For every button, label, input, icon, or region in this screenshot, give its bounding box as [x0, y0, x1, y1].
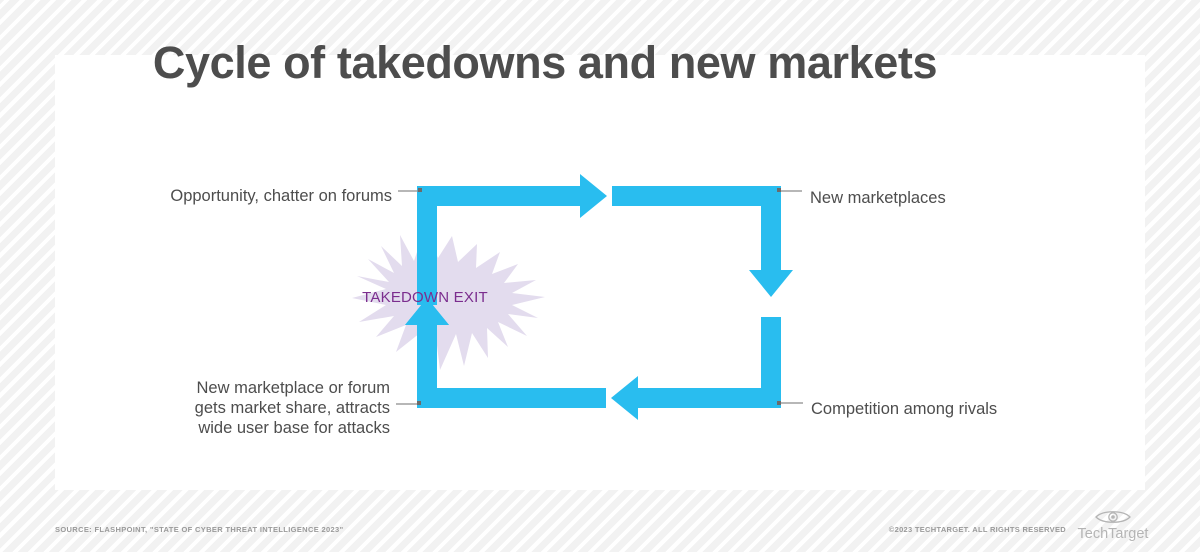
techtarget-wordmark: TechTarget [1078, 526, 1149, 542]
node-label-opportunity: Opportunity, chatter on forums [0, 186, 392, 206]
node-label-new-marketplaces: New marketplaces [810, 188, 1140, 208]
takedown-exit-label: TAKEDOWN EXIT [300, 289, 550, 306]
techtarget-logo: TechTarget [1070, 506, 1156, 542]
page-title: Cycle of takedowns and new markets [0, 37, 1090, 89]
eye-pupil-icon [1111, 515, 1115, 519]
footer-copyright-text: ©2023 TECHTARGET. ALL RIGHTS RESERVED [889, 525, 1066, 534]
node-label-competition: Competition among rivals [811, 399, 1141, 419]
infographic-root: Cycle of takedowns and new markets [0, 0, 1200, 552]
node-label-new-marketplace-or-forum: New marketplace or forum gets market sha… [30, 378, 390, 438]
footer-source-text: SOURCE: FLASHPOINT, "STATE OF CYBER THRE… [55, 525, 343, 534]
